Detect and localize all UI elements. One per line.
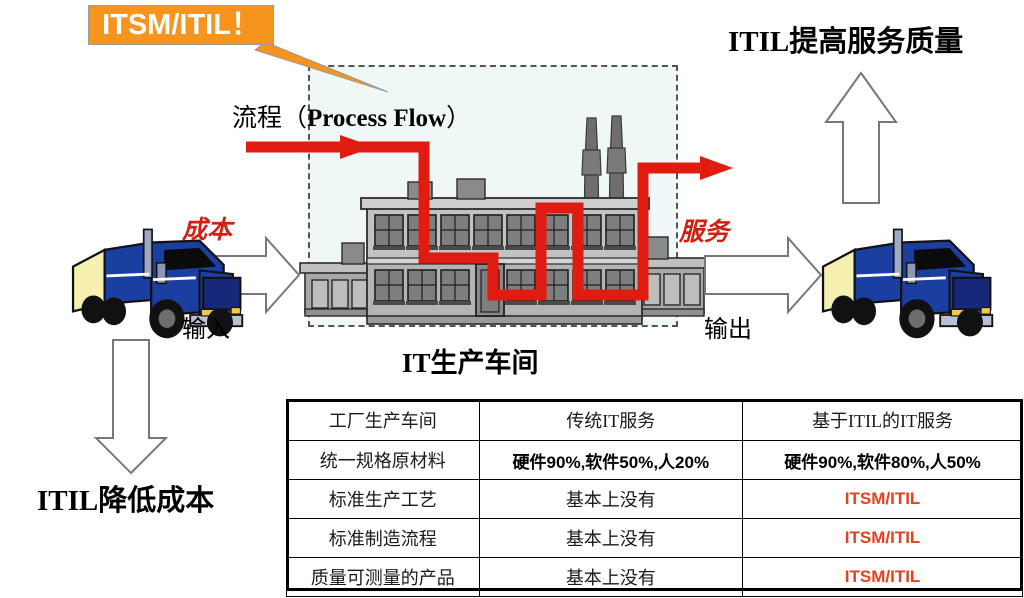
process-flow-label-en: Process Flow: [307, 105, 446, 132]
row-traditional: 硬件90%,软件50%,人20%: [479, 441, 743, 480]
itsm-itil-callout[interactable]: ITSM/ITIL！: [88, 5, 288, 51]
process-flow-label-close: ）: [446, 105, 471, 132]
comparison-table-body: 工厂生产车间 传统IT服务 基于ITIL的IT服务 统一规格原材料 硬件90%,…: [287, 400, 1023, 597]
slide-canvas: ITSM/ITIL！ ITIL提高服务质量 ITIL降低成本 流程（Proces…: [0, 0, 1024, 598]
table-header-cell-2: 基于ITIL的IT服务: [743, 400, 1023, 441]
row-label: 质量可测量的产品: [287, 558, 480, 597]
callout-label: ITSM/ITIL！: [88, 5, 274, 45]
output-label: 输出: [704, 309, 752, 344]
row-label: 标准生产工艺: [287, 480, 480, 519]
row-traditional: 基本上没有: [479, 480, 743, 519]
row-traditional: 基本上没有: [479, 558, 743, 597]
cost-down-arrow: [96, 340, 166, 473]
quality-improve-label: ITIL提高服务质量: [728, 18, 963, 60]
cost-reduce-label: ITIL降低成本: [37, 477, 214, 519]
quality-up-arrow: [826, 73, 896, 203]
table-row: 质量可测量的产品 基本上没有 ITSM/ITIL: [287, 558, 1023, 597]
input-label: 输入: [182, 309, 230, 344]
row-itil: 硬件90%,软件80%,人50%: [743, 441, 1023, 480]
it-workshop-label: IT生产车间: [402, 341, 539, 380]
table-row: 标准制造流程 基本上没有 ITSM/ITIL: [287, 519, 1023, 558]
service-label: 服务: [679, 212, 729, 248]
table-row: 统一规格原材料 硬件90%,软件50%,人20% 硬件90%,软件80%,人50…: [287, 441, 1023, 480]
comparison-table: 工厂生产车间 传统IT服务 基于ITIL的IT服务 统一规格原材料 硬件90%,…: [286, 399, 1023, 597]
process-flow-out-arrow: [700, 156, 733, 180]
table-header-cell-1: 传统IT服务: [479, 400, 743, 441]
row-itil: ITSM/ITIL: [743, 519, 1023, 558]
row-traditional: 基本上没有: [479, 519, 743, 558]
input-block-arrow: [183, 238, 299, 312]
row-itil: ITSM/ITIL: [743, 480, 1023, 519]
table-row: 标准生产工艺 基本上没有 ITSM/ITIL: [287, 480, 1023, 519]
cost-label: 成本: [182, 210, 232, 246]
row-label: 标准制造流程: [287, 519, 480, 558]
output-block-arrow: [705, 238, 821, 312]
truck-right-icon: [823, 229, 992, 338]
table-header-cell-0: 工厂生产车间: [287, 400, 480, 441]
table-header-row: 工厂生产车间 传统IT服务 基于ITIL的IT服务: [287, 400, 1023, 441]
process-flow-label-cn: 流程（: [232, 105, 307, 132]
row-itil: ITSM/ITIL: [743, 558, 1023, 597]
row-label: 统一规格原材料: [287, 441, 480, 480]
process-flow-label: 流程（Process Flow）: [232, 98, 471, 134]
